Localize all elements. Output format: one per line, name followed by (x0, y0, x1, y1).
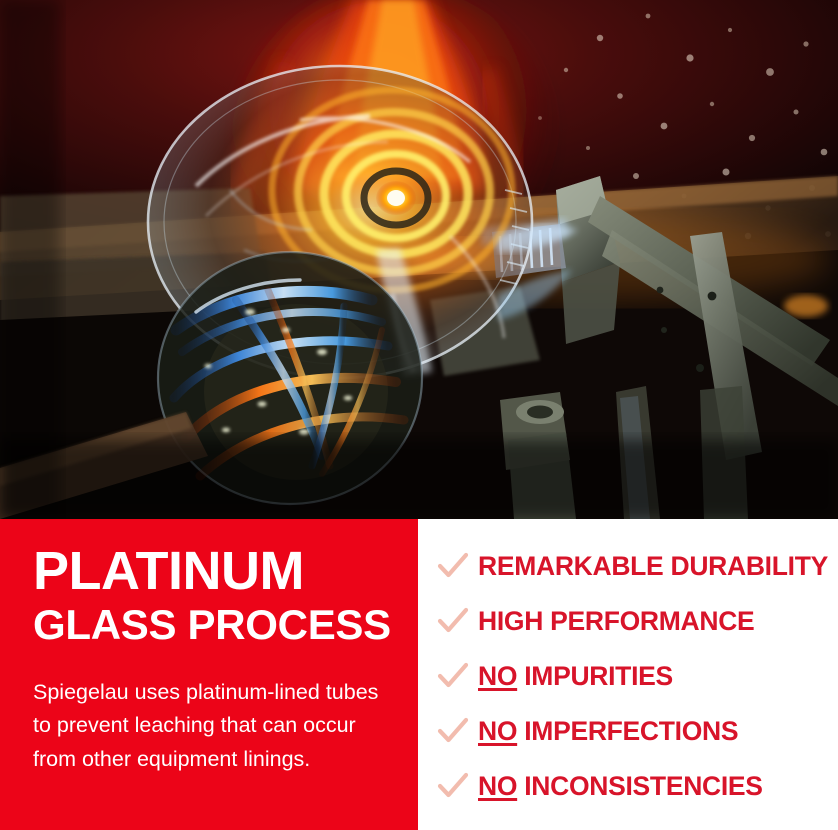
list-item: REMARKABLE DURABILITY (418, 539, 838, 594)
check-icon (436, 605, 470, 639)
list-item-text: IMPURITIES (524, 661, 673, 691)
platinum-glass-process-poster: PLATINUM GLASS PROCESS Spiegelau uses pl… (0, 0, 838, 830)
red-headline-panel: PLATINUM GLASS PROCESS Spiegelau uses pl… (0, 519, 418, 830)
list-item-text: IMPERFECTIONS (524, 716, 738, 746)
body-copy: Spiegelau uses platinum-lined tubes to p… (33, 676, 393, 776)
list-item-text: INCONSISTENCIES (524, 771, 762, 801)
list-item-label: NO INCONSISTENCIES (478, 771, 763, 802)
headline-block: PLATINUM GLASS PROCESS (33, 544, 405, 647)
photo-illustration (0, 0, 838, 519)
benefits-checklist: REMARKABLE DURABILITY HIGH PERFORMANCE (418, 539, 838, 814)
check-icon (436, 550, 470, 584)
list-item-label: HIGH PERFORMANCE (478, 606, 754, 637)
body-copy-line-3: from other equipment linings. (33, 743, 393, 776)
headline-line-1: PLATINUM (33, 544, 405, 598)
glassblowing-photo (0, 0, 838, 519)
headline-line-2: GLASS PROCESS (33, 602, 405, 647)
check-icon (436, 715, 470, 749)
bottom-content: PLATINUM GLASS PROCESS Spiegelau uses pl… (0, 519, 838, 830)
list-item: HIGH PERFORMANCE (418, 594, 838, 649)
body-copy-line-1: Spiegelau uses platinum-lined tubes (33, 676, 393, 709)
list-item-label: NO IMPERFECTIONS (478, 716, 738, 747)
check-icon (436, 770, 470, 804)
check-icon (436, 660, 470, 694)
list-item: NO IMPERFECTIONS (418, 704, 838, 759)
list-item-label: NO IMPURITIES (478, 661, 673, 692)
list-item-text: REMARKABLE DURABILITY (478, 551, 828, 581)
list-item-prefix: NO (478, 716, 517, 746)
list-item-label: REMARKABLE DURABILITY (478, 551, 828, 582)
list-item-prefix: NO (478, 661, 517, 691)
list-item: NO IMPURITIES (418, 649, 838, 704)
body-copy-line-2: to prevent leaching that can occur (33, 709, 393, 742)
white-benefits-panel: REMARKABLE DURABILITY HIGH PERFORMANCE (418, 519, 838, 830)
list-item: NO INCONSISTENCIES (418, 759, 838, 814)
list-item-text: HIGH PERFORMANCE (478, 606, 754, 636)
list-item-prefix: NO (478, 771, 517, 801)
